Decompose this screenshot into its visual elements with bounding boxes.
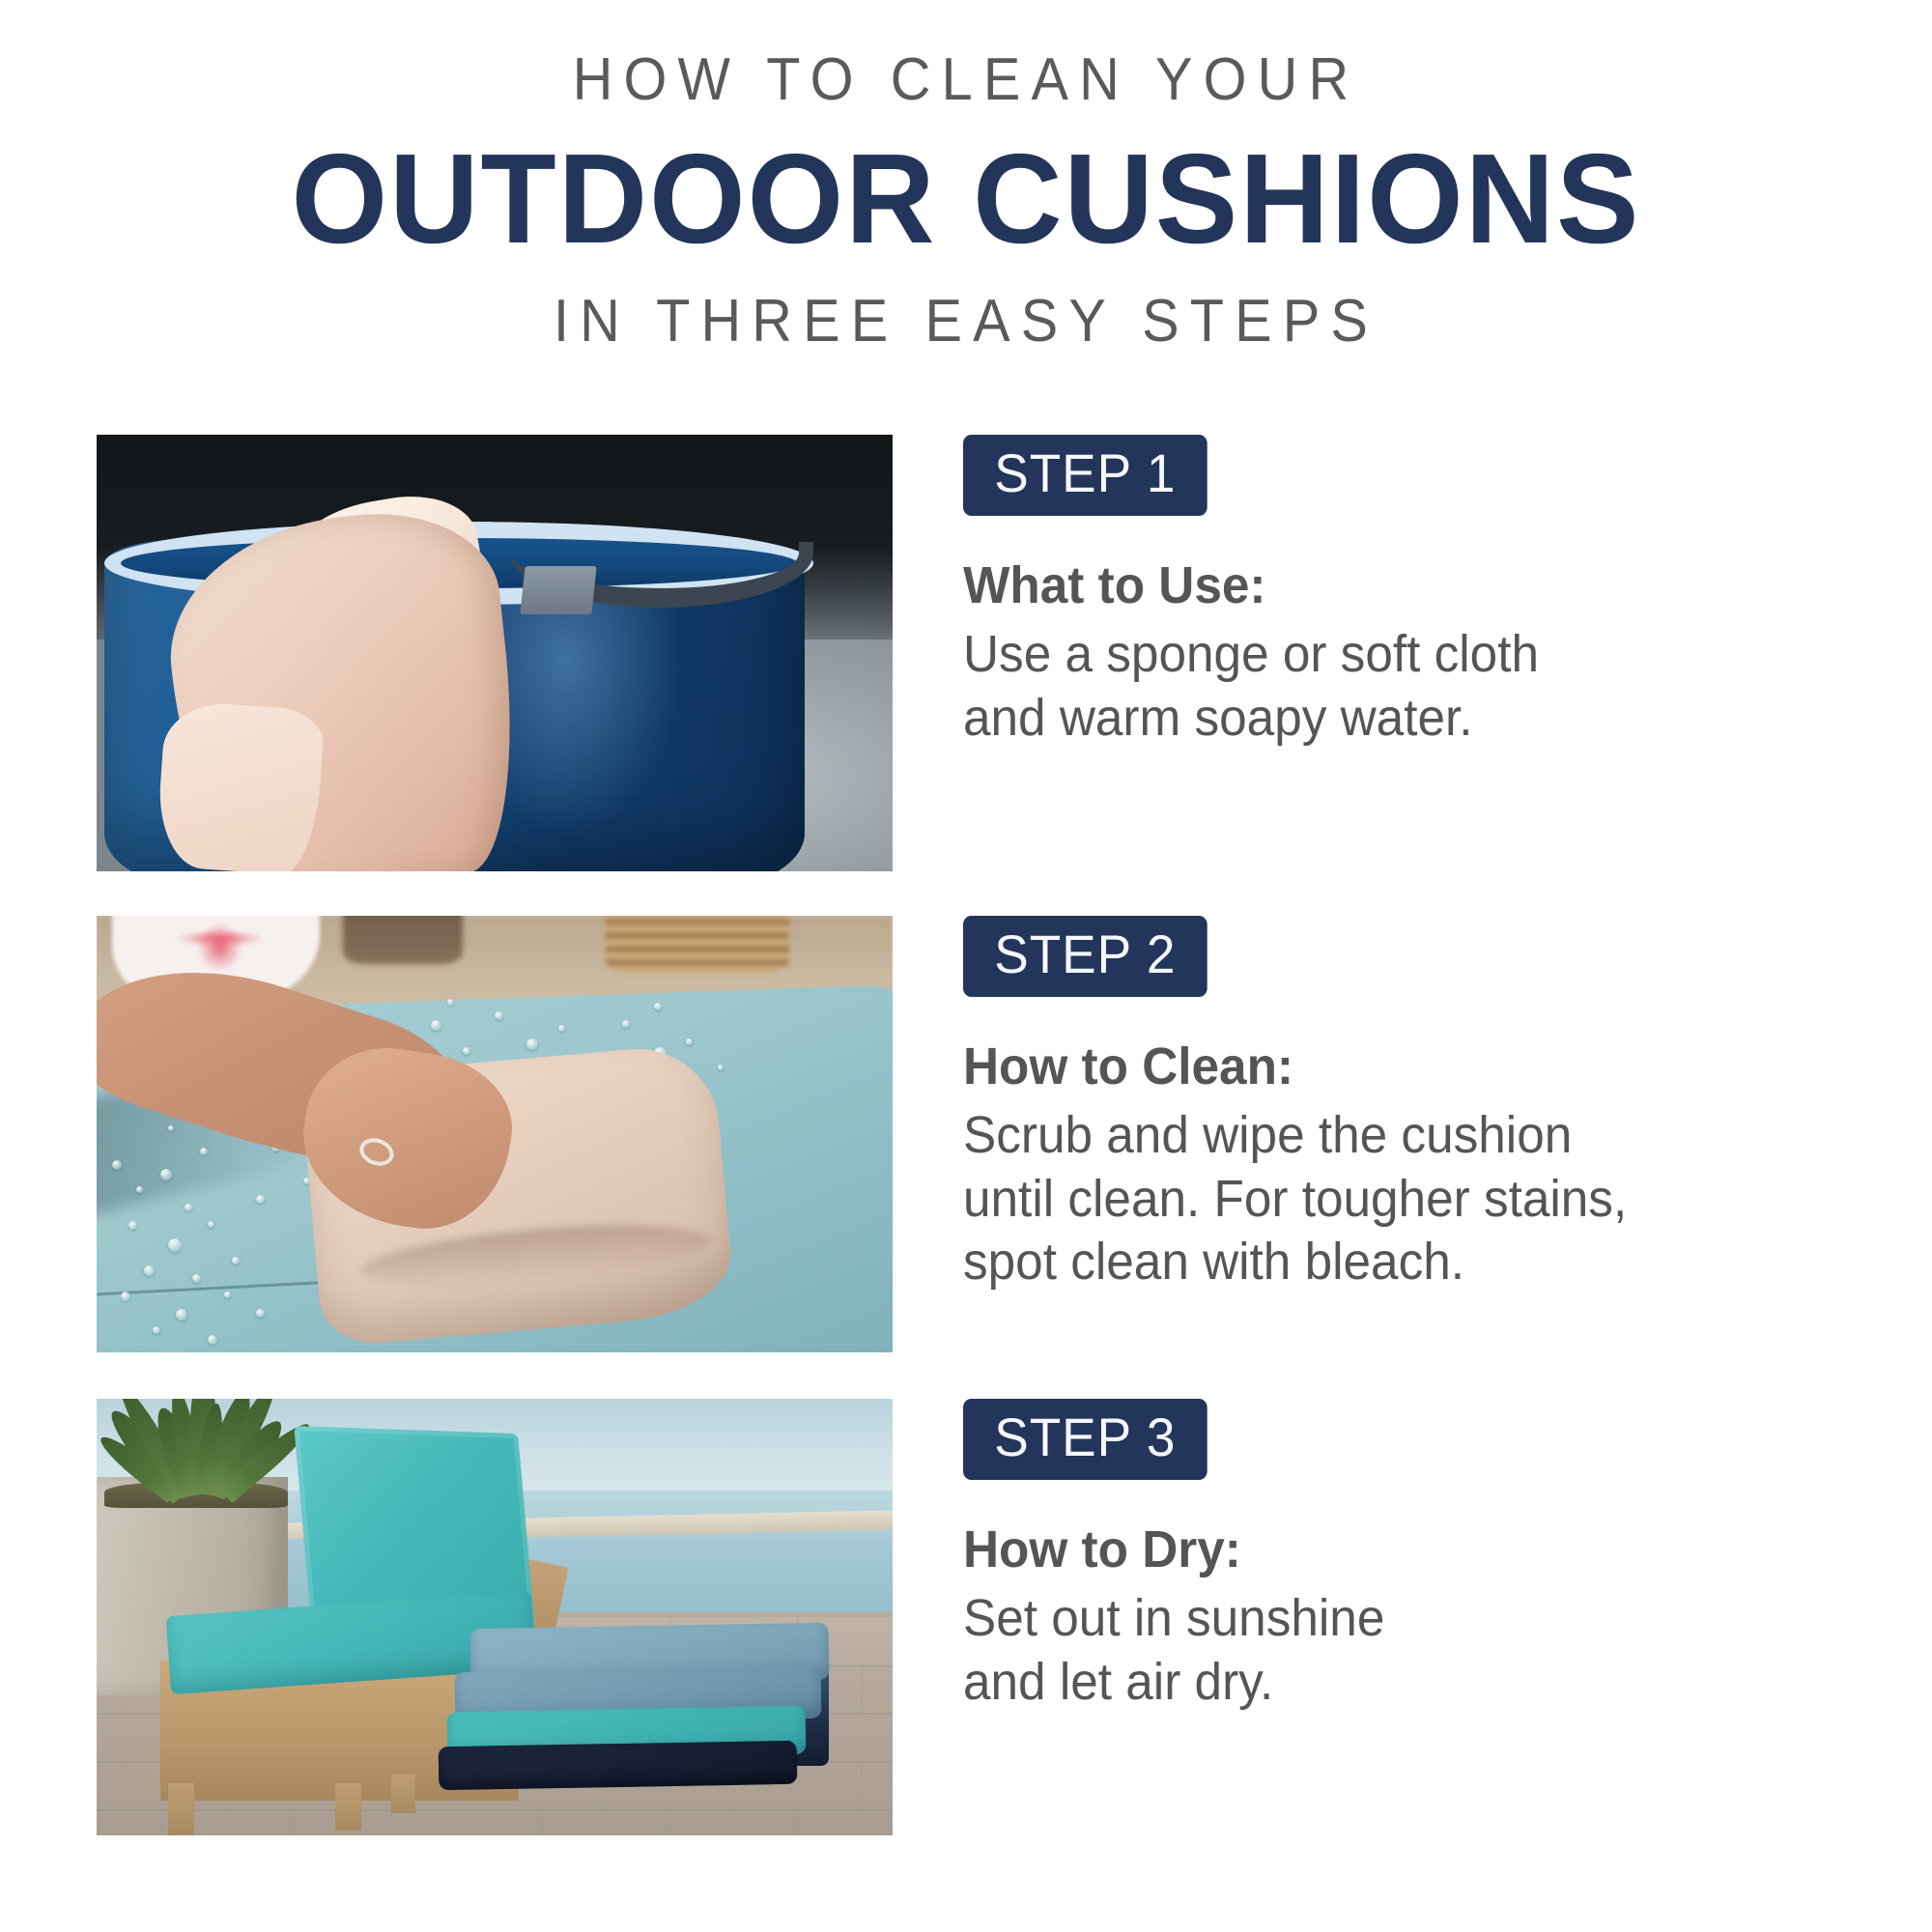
deck-tile <box>797 1809 893 1835</box>
step-1-body: Use a sponge or soft cloth and warm soap… <box>963 623 1789 751</box>
water-droplet <box>256 1195 265 1204</box>
background-basket-left <box>343 916 463 964</box>
water-droplet <box>718 1065 724 1070</box>
step-2-body: Scrub and wipe the cushion until clean. … <box>963 1104 1789 1295</box>
deck-tile <box>97 1809 162 1835</box>
deck-tile <box>542 1809 671 1835</box>
step-1-heading: What to Use: <box>963 558 1789 613</box>
header: HOW TO CLEAN YOUR OUTDOOR CUSHIONS IN TH… <box>0 0 1932 352</box>
water-droplet <box>153 1326 160 1334</box>
woven-basket <box>606 916 789 973</box>
bucket-spout-tab <box>520 566 596 614</box>
water-droplet <box>160 1169 172 1180</box>
step-1-text: STEP 1 What to Use: Use a sponge or soft… <box>963 435 1833 750</box>
water-droplet <box>192 1274 201 1283</box>
step-3-badge: STEP 3 <box>963 1399 1207 1480</box>
water-droplet <box>144 1265 155 1276</box>
cleaning-cloth-hanging <box>155 700 325 871</box>
water-droplet <box>256 1309 265 1318</box>
step-3-photo <box>97 1399 893 1835</box>
water-droplet <box>463 1047 470 1055</box>
water-droplet <box>232 1257 240 1264</box>
stacked-cushion-4 <box>439 1741 798 1791</box>
deck-tile <box>861 1761 893 1811</box>
page-title: OUTDOOR CUSHIONS <box>29 135 1903 263</box>
water-droplet <box>526 1038 538 1050</box>
water-droplet <box>447 999 454 1006</box>
water-droplet <box>121 1292 130 1301</box>
shirt-palm-print <box>168 916 271 973</box>
water-droplet <box>686 1038 693 1045</box>
step-2-photo <box>97 916 893 1352</box>
water-droplet <box>558 1025 565 1032</box>
step-2-text: STEP 2 How to Clean: Scrub and wipe the … <box>963 916 1833 1294</box>
infographic-page: HOW TO CLEAN YOUR OUTDOOR CUSHIONS IN TH… <box>0 0 1932 1932</box>
deck-tile <box>415 1809 545 1835</box>
header-subkicker: IN THREE EASY STEPS <box>68 292 1864 352</box>
water-droplet <box>200 1148 208 1155</box>
chaise-leg-front-right <box>335 1783 360 1832</box>
deck-tile <box>861 1665 893 1716</box>
water-droplet <box>224 1292 231 1298</box>
header-kicker: HOW TO CLEAN YOUR <box>68 50 1864 110</box>
step-1-badge: STEP 1 <box>963 435 1207 516</box>
step-3-heading: How to Dry: <box>963 1522 1789 1577</box>
agave-plant <box>112 1399 279 1494</box>
deck-tile <box>669 1809 799 1835</box>
step-3-body: Set out in sunshine and let air dry. <box>963 1587 1789 1715</box>
chaise-leg-front-left <box>168 1783 193 1835</box>
step-2-badge: STEP 2 <box>963 916 1207 997</box>
step-2-heading: How to Clean: <box>963 1039 1789 1094</box>
step-3-text: STEP 3 How to Dry: Set out in sunshine a… <box>963 1399 1833 1714</box>
chaise-leg-back <box>391 1775 415 1814</box>
deck-tile <box>97 1713 162 1763</box>
step-1-photo <box>97 435 893 871</box>
water-droplet <box>185 1204 192 1211</box>
